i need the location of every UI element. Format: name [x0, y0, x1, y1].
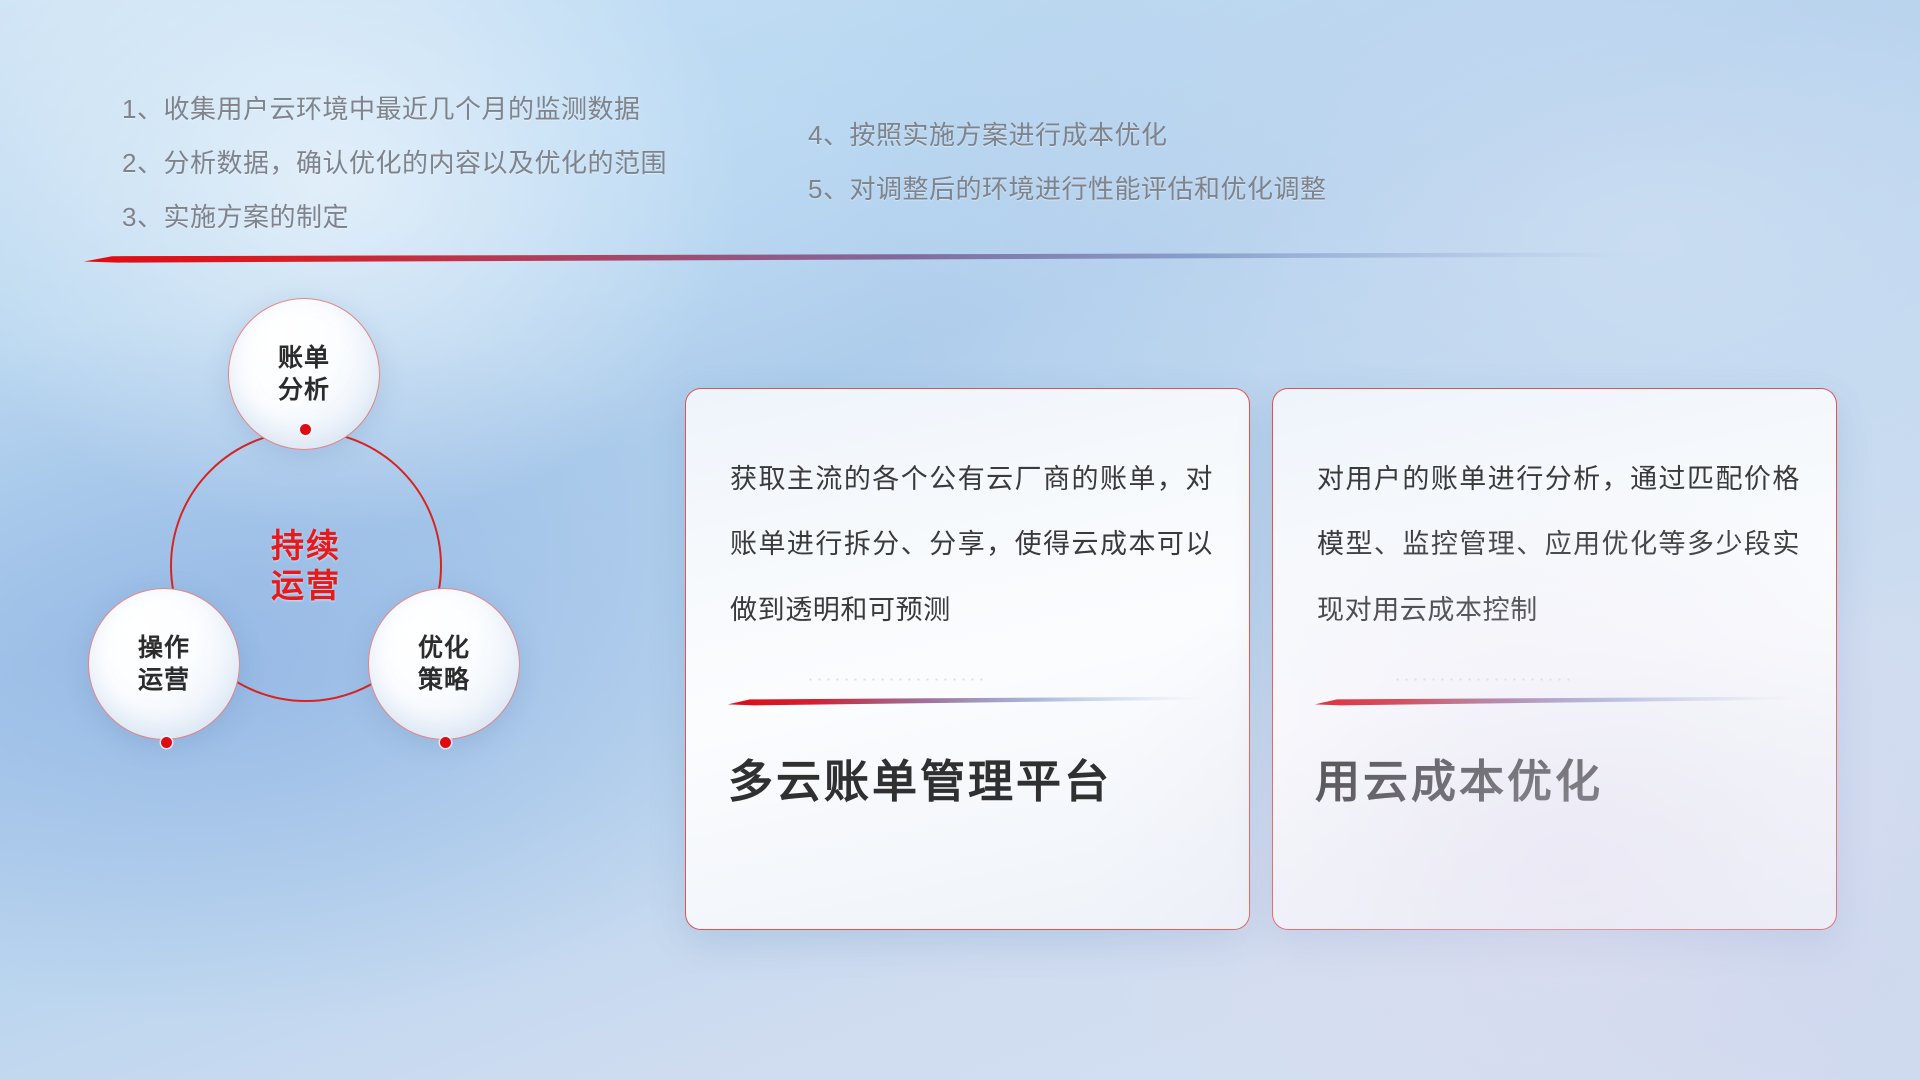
card-body-text: 获取主流的各个公有云厂商的账单，对账单进行拆分、分享，使得云成本可以做到透明和可…: [730, 447, 1213, 643]
bullet-list-left: 1、收集用户云环境中最近几个月的监测数据 2、分析数据，确认优化的内容以及优化的…: [122, 96, 667, 258]
venn-node-dot-right-icon: [440, 737, 451, 748]
bullet-item-2: 2、分析数据，确认优化的内容以及优化的范围: [122, 150, 667, 176]
venn-center-label: 持续 运营: [170, 430, 442, 702]
info-card-cloud-cost-optimization[interactable]: 对用户的账单进行分析，通过匹配价格模型、监控管理、应用优化等多少段实现对用云成本…: [1272, 388, 1837, 930]
bullet-list-right: 4、按照实施方案进行成本优化 5、对调整后的环境进行性能评估和优化调整: [808, 122, 1326, 230]
info-card-multicloud-billing[interactable]: 获取主流的各个公有云厂商的账单，对账单进行拆分、分享，使得云成本可以做到透明和可…: [685, 388, 1250, 930]
bullet-item-4: 4、按照实施方案进行成本优化: [808, 122, 1326, 148]
venn-diagram: 账单 分析 操作 运营 优化 策略 持续 运营: [60, 280, 580, 790]
card-divider: [1315, 696, 1793, 706]
card-divider: [728, 696, 1206, 706]
venn-node-dot-top-icon: [300, 424, 311, 435]
venn-bubble-label: 账单 分析: [278, 342, 330, 407]
slide-canvas: 1、收集用户云环境中最近几个月的监测数据 2、分析数据，确认优化的内容以及优化的…: [0, 0, 1920, 1080]
card-title: 多云账单管理平台: [728, 757, 1219, 807]
bullet-item-3: 3、实施方案的制定: [122, 204, 667, 230]
bullet-item-1: 1、收集用户云环境中最近几个月的监测数据: [122, 96, 667, 122]
card-title: 用云成本优化: [1315, 757, 1806, 807]
card-dot-texture-icon: [1393, 675, 1573, 683]
card-dot-texture-icon: [806, 675, 986, 683]
card-body-text: 对用户的账单进行分析，通过匹配价格模型、监控管理、应用优化等多少段实现对用云成本…: [1317, 447, 1800, 643]
venn-node-dot-left-icon: [161, 737, 172, 748]
bullet-item-5: 5、对调整后的环境进行性能评估和优化调整: [808, 176, 1326, 202]
